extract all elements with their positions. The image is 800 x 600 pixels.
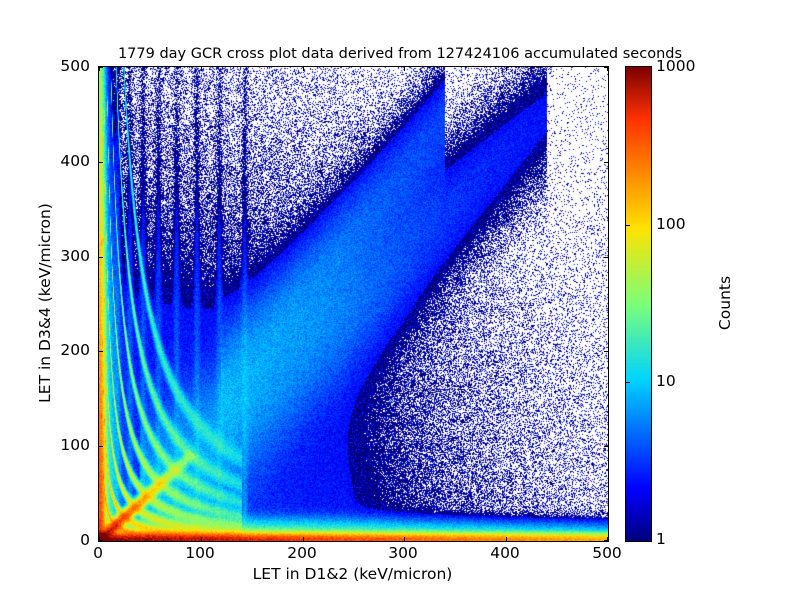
x-tick-mark bbox=[404, 67, 405, 71]
x-tick-mark bbox=[303, 537, 304, 541]
y-tick-mark bbox=[99, 446, 103, 447]
figure-canvas: 1779 day GCR cross plot data derived fro… bbox=[0, 0, 800, 600]
colorbar-gradient bbox=[626, 67, 651, 541]
x-tick-label: 200 bbox=[287, 544, 317, 562]
y-tick-mark bbox=[604, 67, 608, 68]
heatmap-scatter-canvas bbox=[99, 67, 608, 541]
y-tick-mark bbox=[99, 351, 103, 352]
x-axis-label: LET in D1&2 (keV/micron) bbox=[98, 565, 607, 583]
y-tick-mark bbox=[99, 67, 103, 68]
colorbar bbox=[625, 66, 652, 542]
y-tick-mark bbox=[604, 540, 608, 541]
colorbar-tick-mark bbox=[626, 382, 630, 383]
y-tick-mark bbox=[99, 540, 103, 541]
colorbar-tick-label: 10 bbox=[656, 372, 676, 390]
y-tick-mark bbox=[99, 257, 103, 258]
colorbar-title: Counts bbox=[716, 66, 734, 540]
x-tick-label: 500 bbox=[592, 544, 622, 562]
plot-axes bbox=[98, 66, 609, 542]
y-tick-mark bbox=[604, 162, 608, 163]
y-tick-mark bbox=[604, 257, 608, 258]
x-tick-label: 300 bbox=[388, 544, 418, 562]
x-tick-label: 0 bbox=[93, 544, 103, 562]
y-tick-mark bbox=[604, 446, 608, 447]
x-tick-mark bbox=[506, 537, 507, 541]
x-tick-mark bbox=[201, 537, 202, 541]
colorbar-tick-label: 100 bbox=[656, 215, 686, 233]
x-tick-label: 400 bbox=[490, 544, 520, 562]
colorbar-tick-mark bbox=[626, 225, 630, 226]
x-tick-mark bbox=[303, 67, 304, 71]
x-tick-mark bbox=[201, 67, 202, 71]
y-axis-label: LET in D3&4 (keV/micron) bbox=[36, 66, 54, 540]
y-tick-mark bbox=[99, 162, 103, 163]
x-tick-mark bbox=[506, 67, 507, 71]
x-tick-label: 100 bbox=[185, 544, 215, 562]
x-tick-mark bbox=[404, 537, 405, 541]
colorbar-tick-label: 1000 bbox=[656, 57, 695, 75]
y-tick-mark bbox=[604, 351, 608, 352]
colorbar-tick-label: 1 bbox=[656, 530, 666, 548]
